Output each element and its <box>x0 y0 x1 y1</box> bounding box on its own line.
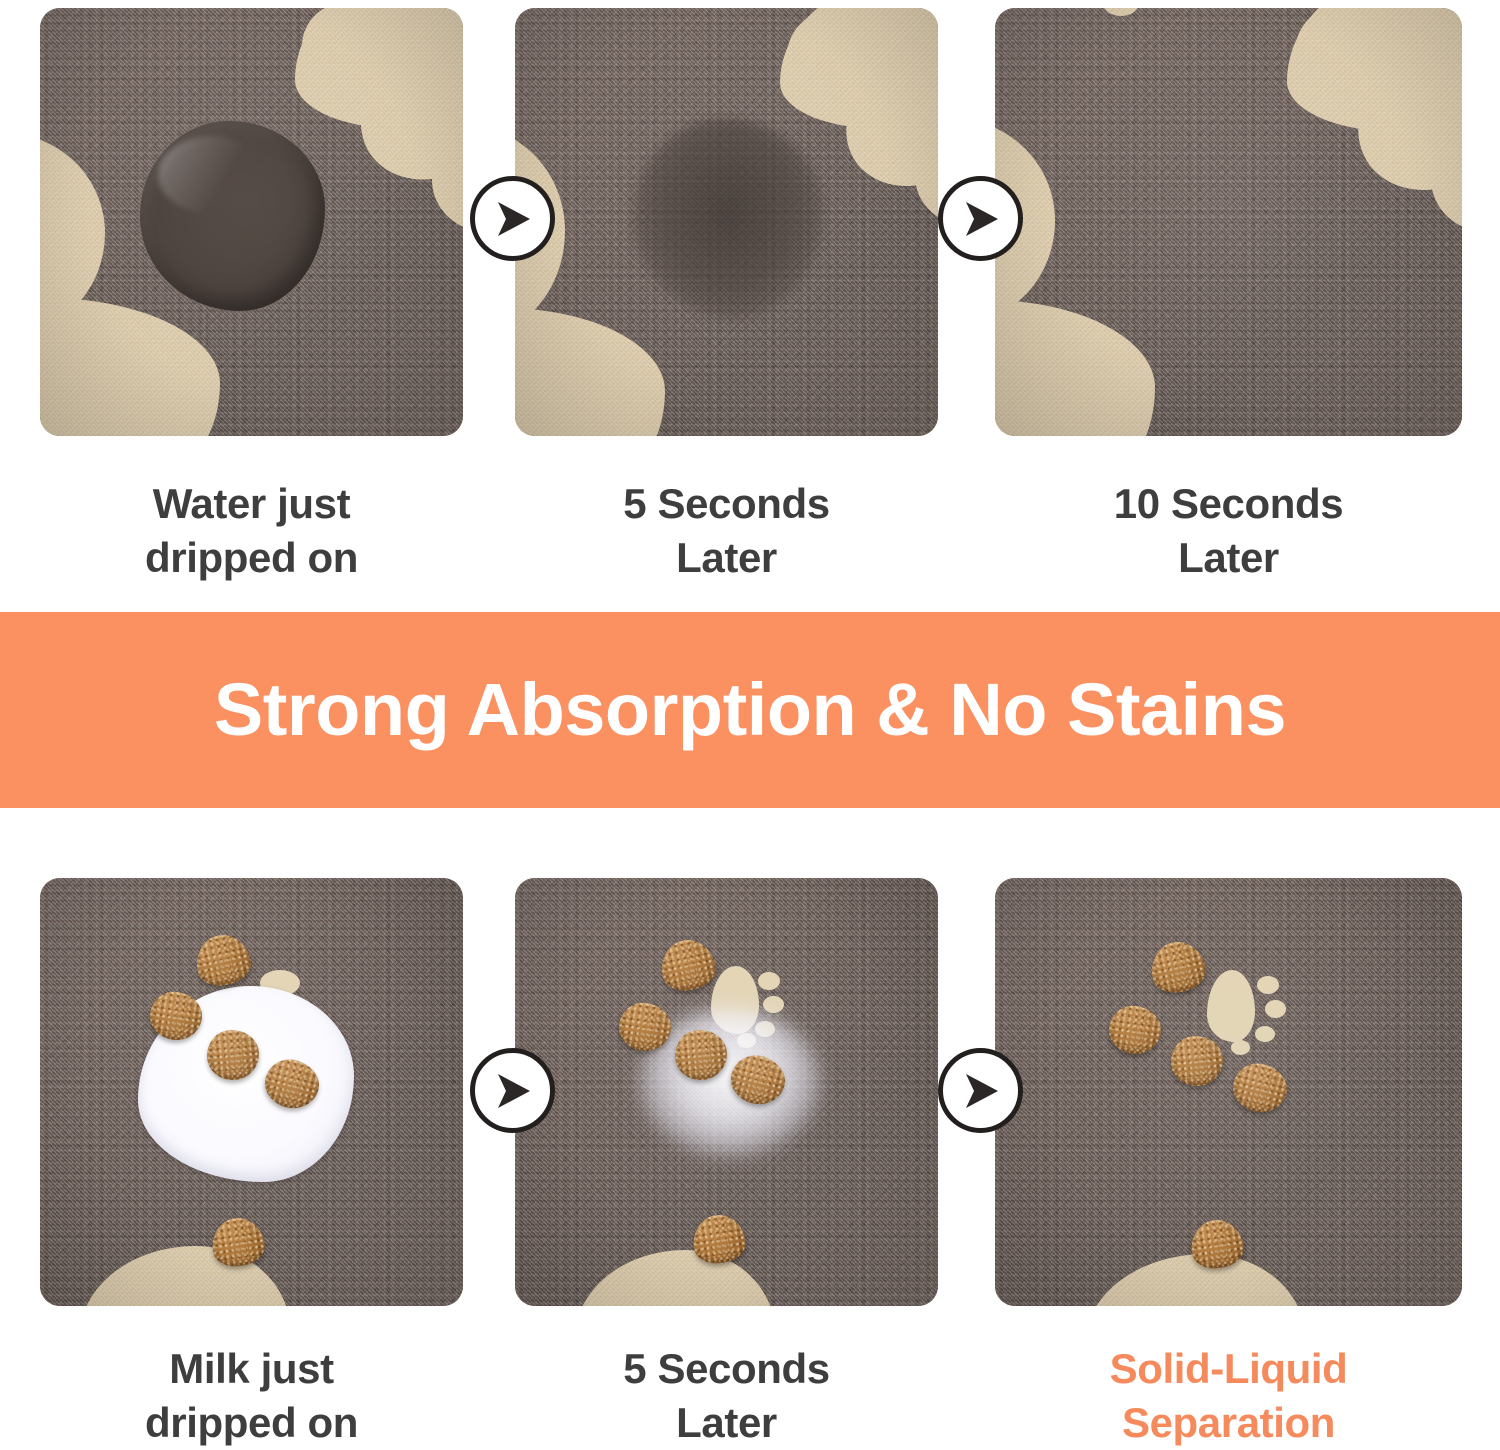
caption-water-dripped: Water just dripped on <box>40 477 463 585</box>
caption-water-5s: 5 Seconds Later <box>515 477 938 585</box>
panel-vignette <box>515 8 938 436</box>
panel-milk-5s <box>515 878 938 1306</box>
panel-water-10s <box>995 8 1462 436</box>
panel-vignette <box>515 878 938 1306</box>
arrow-right-icon <box>470 1048 555 1133</box>
caption-milk-5s: 5 Seconds Later <box>515 1342 938 1450</box>
arrow-right-icon <box>938 1048 1023 1133</box>
panel-vignette <box>40 8 463 436</box>
panel-water-dripped <box>40 8 463 436</box>
arrow-right-icon <box>938 176 1023 261</box>
arrow-right-icon <box>470 176 555 261</box>
panel-vignette <box>995 878 1462 1306</box>
headline-banner: Strong Absorption & No Stains <box>0 612 1500 808</box>
caption-water-10s: 10 Seconds Later <box>995 477 1462 585</box>
headline-text: Strong Absorption & No Stains <box>214 673 1286 747</box>
panel-milk-absorbed <box>995 878 1462 1306</box>
caption-milk-dripped: Milk just dripped on <box>40 1342 463 1450</box>
infographic-stage: Water just dripped on 5 Seconds Later 10… <box>0 0 1500 1447</box>
panel-vignette <box>995 8 1462 436</box>
panel-milk-dripped <box>40 878 463 1306</box>
panel-water-5s <box>515 8 938 436</box>
caption-solid-liquid-separation: Solid-Liquid Separation <box>995 1342 1462 1450</box>
panel-vignette <box>40 878 463 1306</box>
